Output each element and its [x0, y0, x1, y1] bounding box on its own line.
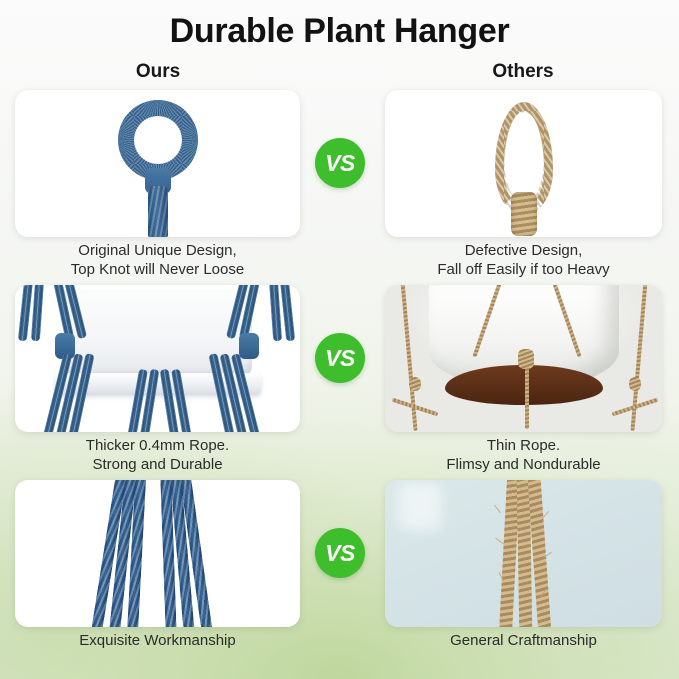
product-image-card-ours-3	[15, 480, 300, 627]
frayed-jute-strands-icon	[385, 480, 662, 627]
caption-others-1: Defective Design, Fall off Easily if too…	[385, 241, 662, 279]
caption-ours-3: Exquisite Workmanship	[15, 631, 300, 650]
product-image-card-others-1	[385, 90, 662, 237]
column-header-ours: Ours	[58, 61, 258, 83]
caption-ours-2: Thicker 0.4mm Rope. Strong and Durable	[15, 436, 300, 474]
jute-rope-loop-icon	[385, 90, 662, 237]
thin-jute-rope-pot-icon	[385, 285, 662, 432]
vs-badge-2: VS	[315, 333, 365, 383]
vs-badge-1: VS	[315, 138, 365, 188]
caption-ours-1: Original Unique Design, Top Knot will Ne…	[15, 241, 300, 279]
vs-badge-label: VS	[325, 150, 355, 177]
column-header-others: Others	[423, 61, 623, 83]
product-image-card-ours-1	[15, 90, 300, 237]
product-image-card-others-2	[385, 285, 662, 432]
caption-others-3: General Craftmanship	[385, 631, 662, 650]
blue-rope-strands-icon	[15, 480, 300, 627]
product-image-card-ours-2	[15, 285, 300, 432]
caption-others-2: Thin Rope. Flimsy and Nondurable	[385, 436, 662, 474]
vs-badge-label: VS	[325, 540, 355, 567]
vs-badge-label: VS	[325, 345, 355, 372]
blue-macrame-ring-icon	[15, 90, 300, 237]
comparison-infographic: Durable Plant Hanger Ours Others VS Orig…	[0, 0, 679, 679]
vs-badge-3: VS	[315, 528, 365, 578]
product-image-card-others-3	[385, 480, 662, 627]
page-title: Durable Plant Hanger	[0, 12, 679, 51]
blue-rope-ceramic-pot-icon	[15, 285, 300, 432]
